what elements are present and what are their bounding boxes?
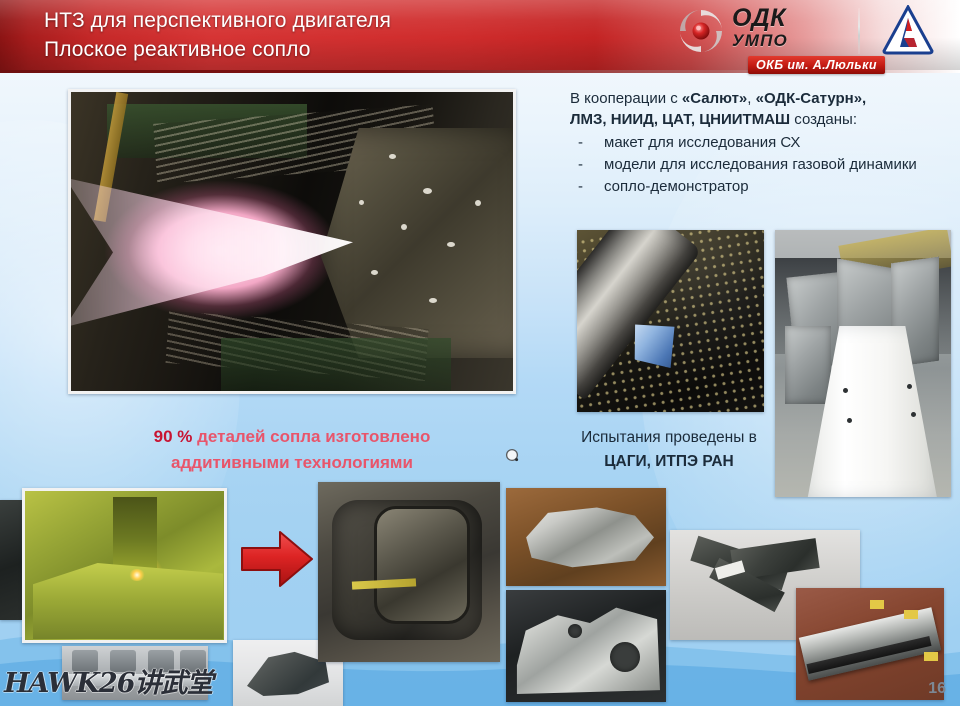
- photo-detail-highlight: [447, 242, 455, 247]
- photo-detail-exhaust-plume: [68, 164, 365, 334]
- title-line-2: Плоское реактивное сопло: [44, 35, 644, 64]
- cooperation-items-list: - макет для исследования СХ - модели для…: [570, 132, 958, 197]
- mouse-cursor-icon: [505, 448, 521, 464]
- photo-detail-work-table: [33, 563, 223, 639]
- printed-part-on-wood-table-photo: [506, 488, 666, 586]
- rectangular-nozzle-duct-photo: [318, 482, 500, 662]
- photo-detail-laser-spark: [129, 569, 145, 581]
- list-dash: -: [578, 132, 583, 153]
- cooperation-lead: В кооперации с «Салют», «ОДК-Сатурн», ЛМ…: [570, 88, 958, 130]
- presentation-slide: НТЗ для перспективного двигателя Плоское…: [0, 0, 960, 706]
- list-item-label: макет для исследования СХ: [604, 134, 800, 151]
- photo-detail-printed-part: [518, 502, 654, 570]
- odk-sub-text: УМПО: [732, 31, 840, 51]
- printed-housing-casting-photo: [506, 590, 666, 702]
- odk-main-text: ОДК: [732, 5, 840, 31]
- scale-model-in-anechoic-chamber-photo: [577, 230, 764, 412]
- list-item-label: модели для исследования газовой динамики: [604, 156, 917, 173]
- photo-detail-bolt: [907, 384, 912, 389]
- photo-detail-bolt: [847, 418, 852, 423]
- title-line-1: НТЗ для перспективного двигателя: [44, 6, 644, 35]
- tests-caption-line1: Испытания проведены в: [581, 429, 757, 446]
- red-right-arrow-icon: [240, 528, 314, 590]
- cooperation-text-block: В кооперации с «Салют», «ОДК-Сатурн», ЛМ…: [570, 88, 958, 198]
- photo-detail-metal-panel: [785, 326, 831, 404]
- lyulka-triangle-emblem-icon: [882, 5, 934, 55]
- tests-caption-line2: ЦАГИ, ИТПЭ РАН: [604, 453, 734, 470]
- photo-detail-duct-mouth: [374, 506, 470, 624]
- tests-caption: Испытания проведены в ЦАГИ, ИТПЭ РАН: [554, 426, 784, 474]
- cooperation-partners-line2: ЛМЗ, НИИД, ЦАТ, ЦНИИТМАШ: [570, 111, 790, 128]
- photo-detail-laser-head: [113, 497, 157, 575]
- odk-wordmark: ОДК УМПО: [732, 5, 840, 61]
- list-item: - макет для исследования СХ: [570, 132, 958, 153]
- photo-detail-highlight: [423, 188, 432, 194]
- list-item-label: сопло-демонстратор: [604, 178, 749, 195]
- watermark: HAWK26讲武堂: [4, 661, 212, 700]
- odk-spiral-icon: [678, 8, 724, 54]
- page-number: 16: [928, 680, 946, 698]
- additive-caption-line2: аддитивными технологиями: [171, 453, 413, 472]
- photo-detail-bracket: [247, 650, 329, 696]
- list-item: - сопло-демонстратор: [570, 176, 958, 197]
- photo-detail-tape-marker: [904, 610, 918, 619]
- cooperation-lead-prefix: В кооперации с: [570, 90, 682, 107]
- white-nozzle-demonstrator-photo: [775, 230, 951, 497]
- photo-detail-background-green-lower: [221, 338, 451, 394]
- photo-detail-bore: [568, 624, 582, 638]
- photo-detail-casting-body: [514, 598, 660, 694]
- cooperation-partner-saturn: «ОДК-Сатурн»,: [756, 90, 867, 107]
- page-title: НТЗ для перспективного двигателя Плоское…: [44, 6, 644, 64]
- afterburner-flat-nozzle-test-photo: [68, 89, 516, 394]
- additive-percentage-caption: 90 % деталей сопла изготовлено аддитивны…: [112, 424, 472, 476]
- list-dash: -: [578, 176, 583, 197]
- nozzle-flap-assembly-photo: [796, 588, 944, 700]
- photo-detail-highlight: [389, 154, 396, 159]
- okb-lyulka-banner: ОКБ им. А.Люльки: [748, 56, 885, 74]
- logo-divider: [858, 8, 860, 54]
- cooperation-lead-tail: созданы:: [790, 111, 857, 128]
- additive-percentage-value: 90 %: [154, 427, 193, 446]
- photo-detail-tape-marker: [870, 600, 884, 609]
- photo-detail-highlight: [401, 224, 407, 230]
- photo-detail-tape-marker: [924, 652, 938, 661]
- additive-caption-line1: деталей сопла изготовлено: [192, 427, 430, 446]
- photo-detail-highlight: [429, 298, 437, 303]
- photo-detail-bolt: [843, 388, 848, 393]
- photo-detail-highlight: [371, 270, 378, 275]
- photo-detail-highlight: [475, 200, 481, 206]
- cooperation-partner-salut: «Салют»: [682, 90, 747, 107]
- edge-photo-sliver: [0, 500, 22, 620]
- photo-detail-highlight: [359, 200, 364, 205]
- additive-laser-deposition-machine-photo: [22, 488, 227, 643]
- cooperation-comma: ,: [747, 90, 755, 107]
- list-item: - модели для исследования газовой динами…: [570, 154, 958, 175]
- photo-detail-bore: [610, 642, 640, 672]
- brand-logo-block: ОДК УМПО ОКБ им. А.Люльки: [670, 2, 952, 72]
- list-dash: -: [578, 154, 583, 175]
- photo-detail-bolt: [911, 412, 916, 417]
